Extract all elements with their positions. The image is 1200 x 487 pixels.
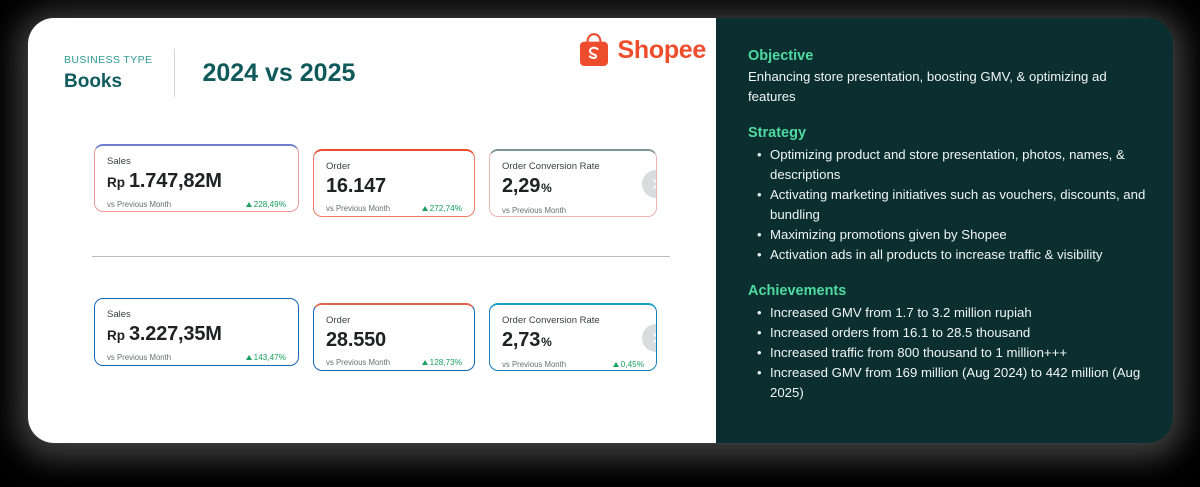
chevron-right-icon	[650, 178, 657, 190]
metric-value: 16.147	[326, 174, 462, 199]
shopee-logo: Shopee	[577, 32, 707, 68]
objective-heading: Objective	[748, 46, 1147, 66]
achievements-list: Increased GMV from 1.7 to 3.2 million ru…	[748, 303, 1147, 403]
achievements-heading: Achievements	[748, 281, 1147, 301]
currency-prefix: Rp	[107, 170, 125, 195]
delta-badge: 0,45%	[613, 360, 644, 369]
metric-value: 2,29 %	[502, 174, 644, 201]
compare-label: vs Previous Month	[107, 353, 171, 362]
summary-panel: Objective Enhancing store presentation, …	[716, 18, 1173, 443]
triangle-up-icon	[246, 202, 252, 207]
metric-label: Order Conversion Rate	[502, 160, 644, 173]
strategy-list: Optimizing product and store presentatio…	[748, 145, 1147, 265]
metric-card-conversion-2024[interactable]: Order Conversion Rate 2,29 % vs Previous…	[489, 149, 657, 217]
strategy-heading: Strategy	[748, 123, 1147, 143]
delta-value: 228,49%	[254, 200, 286, 209]
list-item: Increased GMV from 169 million (Aug 2024…	[770, 363, 1147, 403]
metric-footer: vs Previous Month 228,49%	[107, 200, 286, 209]
list-item: Increased orders from 16.1 to 28.5 thous…	[770, 323, 1147, 343]
achievements-section: Achievements Increased GMV from 1.7 to 3…	[748, 281, 1147, 403]
triangle-up-icon	[422, 360, 428, 365]
list-item: Activating marketing initiatives such as…	[770, 185, 1147, 225]
metric-value: 28.550	[326, 328, 462, 353]
list-item: Optimizing product and store presentatio…	[770, 145, 1147, 185]
metric-value: 2,73 %	[502, 328, 644, 355]
metric-card-order-2024[interactable]: Order 16.147 vs Previous Month 272,74%	[313, 149, 475, 217]
metric-card-order-2025[interactable]: Order 28.550 vs Previous Month 128,73%	[313, 303, 475, 371]
list-item: Increased traffic from 800 thousand to 1…	[770, 343, 1147, 363]
business-type-label: BUSINESS TYPE	[64, 52, 152, 68]
metric-value: Rp 3.227,35M	[107, 322, 286, 348]
value-number: 2,29	[502, 174, 540, 199]
value-number: 28.550	[326, 328, 386, 353]
compare-label: vs Previous Month	[107, 200, 171, 209]
compare-label: vs Previous Month	[502, 206, 566, 215]
delta-value: 128,73%	[430, 358, 462, 367]
triangle-up-icon	[613, 362, 619, 367]
value-number: 1.747,82M	[129, 169, 222, 194]
compare-label: vs Previous Month	[326, 204, 390, 213]
metric-label: Sales	[107, 155, 286, 168]
metric-card-conversion-2025[interactable]: Order Conversion Rate 2,73 % vs Previous…	[489, 303, 657, 371]
value-number: 2,73	[502, 328, 540, 353]
page-title: 2024 vs 2025	[202, 59, 355, 88]
objective-section: Objective Enhancing store presentation, …	[748, 46, 1147, 107]
triangle-up-icon	[246, 355, 252, 360]
metric-footer: vs Previous Month 143,47%	[107, 353, 286, 362]
metric-row-2024: Sales Rp 1.747,82M vs Previous Month 228…	[94, 144, 657, 217]
row-divider	[92, 256, 670, 257]
business-type-block: BUSINESS TYPE Books	[64, 52, 174, 94]
list-item: Activation ads in all products to increa…	[770, 245, 1147, 265]
metric-label: Order Conversion Rate	[502, 314, 644, 327]
metric-card-sales-2025[interactable]: Sales Rp 3.227,35M vs Previous Month 143…	[94, 298, 299, 366]
metric-label: Sales	[107, 308, 286, 321]
metric-footer: vs Previous Month 0,45%	[502, 360, 644, 369]
metric-card-sales-2024[interactable]: Sales Rp 1.747,82M vs Previous Month 228…	[94, 144, 299, 212]
delta-badge: 228,49%	[246, 200, 286, 209]
strategy-section: Strategy Optimizing product and store pr…	[748, 123, 1147, 265]
value-suffix: %	[541, 176, 552, 201]
delta-badge: 272,74%	[422, 204, 462, 213]
objective-text: Enhancing store presentation, boosting G…	[748, 67, 1147, 107]
chevron-right-icon	[650, 332, 657, 344]
delta-value: 0,45%	[621, 360, 644, 369]
metric-footer: vs Previous Month 128,73%	[326, 358, 462, 367]
list-item: Maximizing promotions given by Shopee	[770, 225, 1147, 245]
value-number: 3.227,35M	[129, 322, 222, 347]
metric-footer: vs Previous Month 272,74%	[326, 204, 462, 213]
metric-footer: vs Previous Month	[502, 206, 644, 215]
shopee-bag-icon	[577, 32, 611, 68]
metric-label: Order	[326, 160, 462, 173]
triangle-up-icon	[422, 206, 428, 211]
value-suffix: %	[541, 330, 552, 355]
business-type-value: Books	[64, 70, 152, 94]
list-item: Increased GMV from 1.7 to 3.2 million ru…	[770, 303, 1147, 323]
shopee-wordmark: Shopee	[618, 36, 707, 65]
delta-badge: 143,47%	[246, 353, 286, 362]
compare-label: vs Previous Month	[326, 358, 390, 367]
metrics-panel: BUSINESS TYPE Books 2024 vs 2025 Shopee …	[28, 18, 716, 443]
metric-label: Order	[326, 314, 462, 327]
delta-value: 272,74%	[430, 204, 462, 213]
delta-value: 143,47%	[254, 353, 286, 362]
value-number: 16.147	[326, 174, 386, 199]
metric-row-2025: Sales Rp 3.227,35M vs Previous Month 143…	[94, 298, 657, 371]
compare-label: vs Previous Month	[502, 360, 566, 369]
metric-value: Rp 1.747,82M	[107, 169, 286, 195]
header-divider	[174, 49, 175, 97]
report-slide: BUSINESS TYPE Books 2024 vs 2025 Shopee …	[28, 18, 1173, 443]
delta-badge: 128,73%	[422, 358, 462, 367]
currency-prefix: Rp	[107, 323, 125, 348]
